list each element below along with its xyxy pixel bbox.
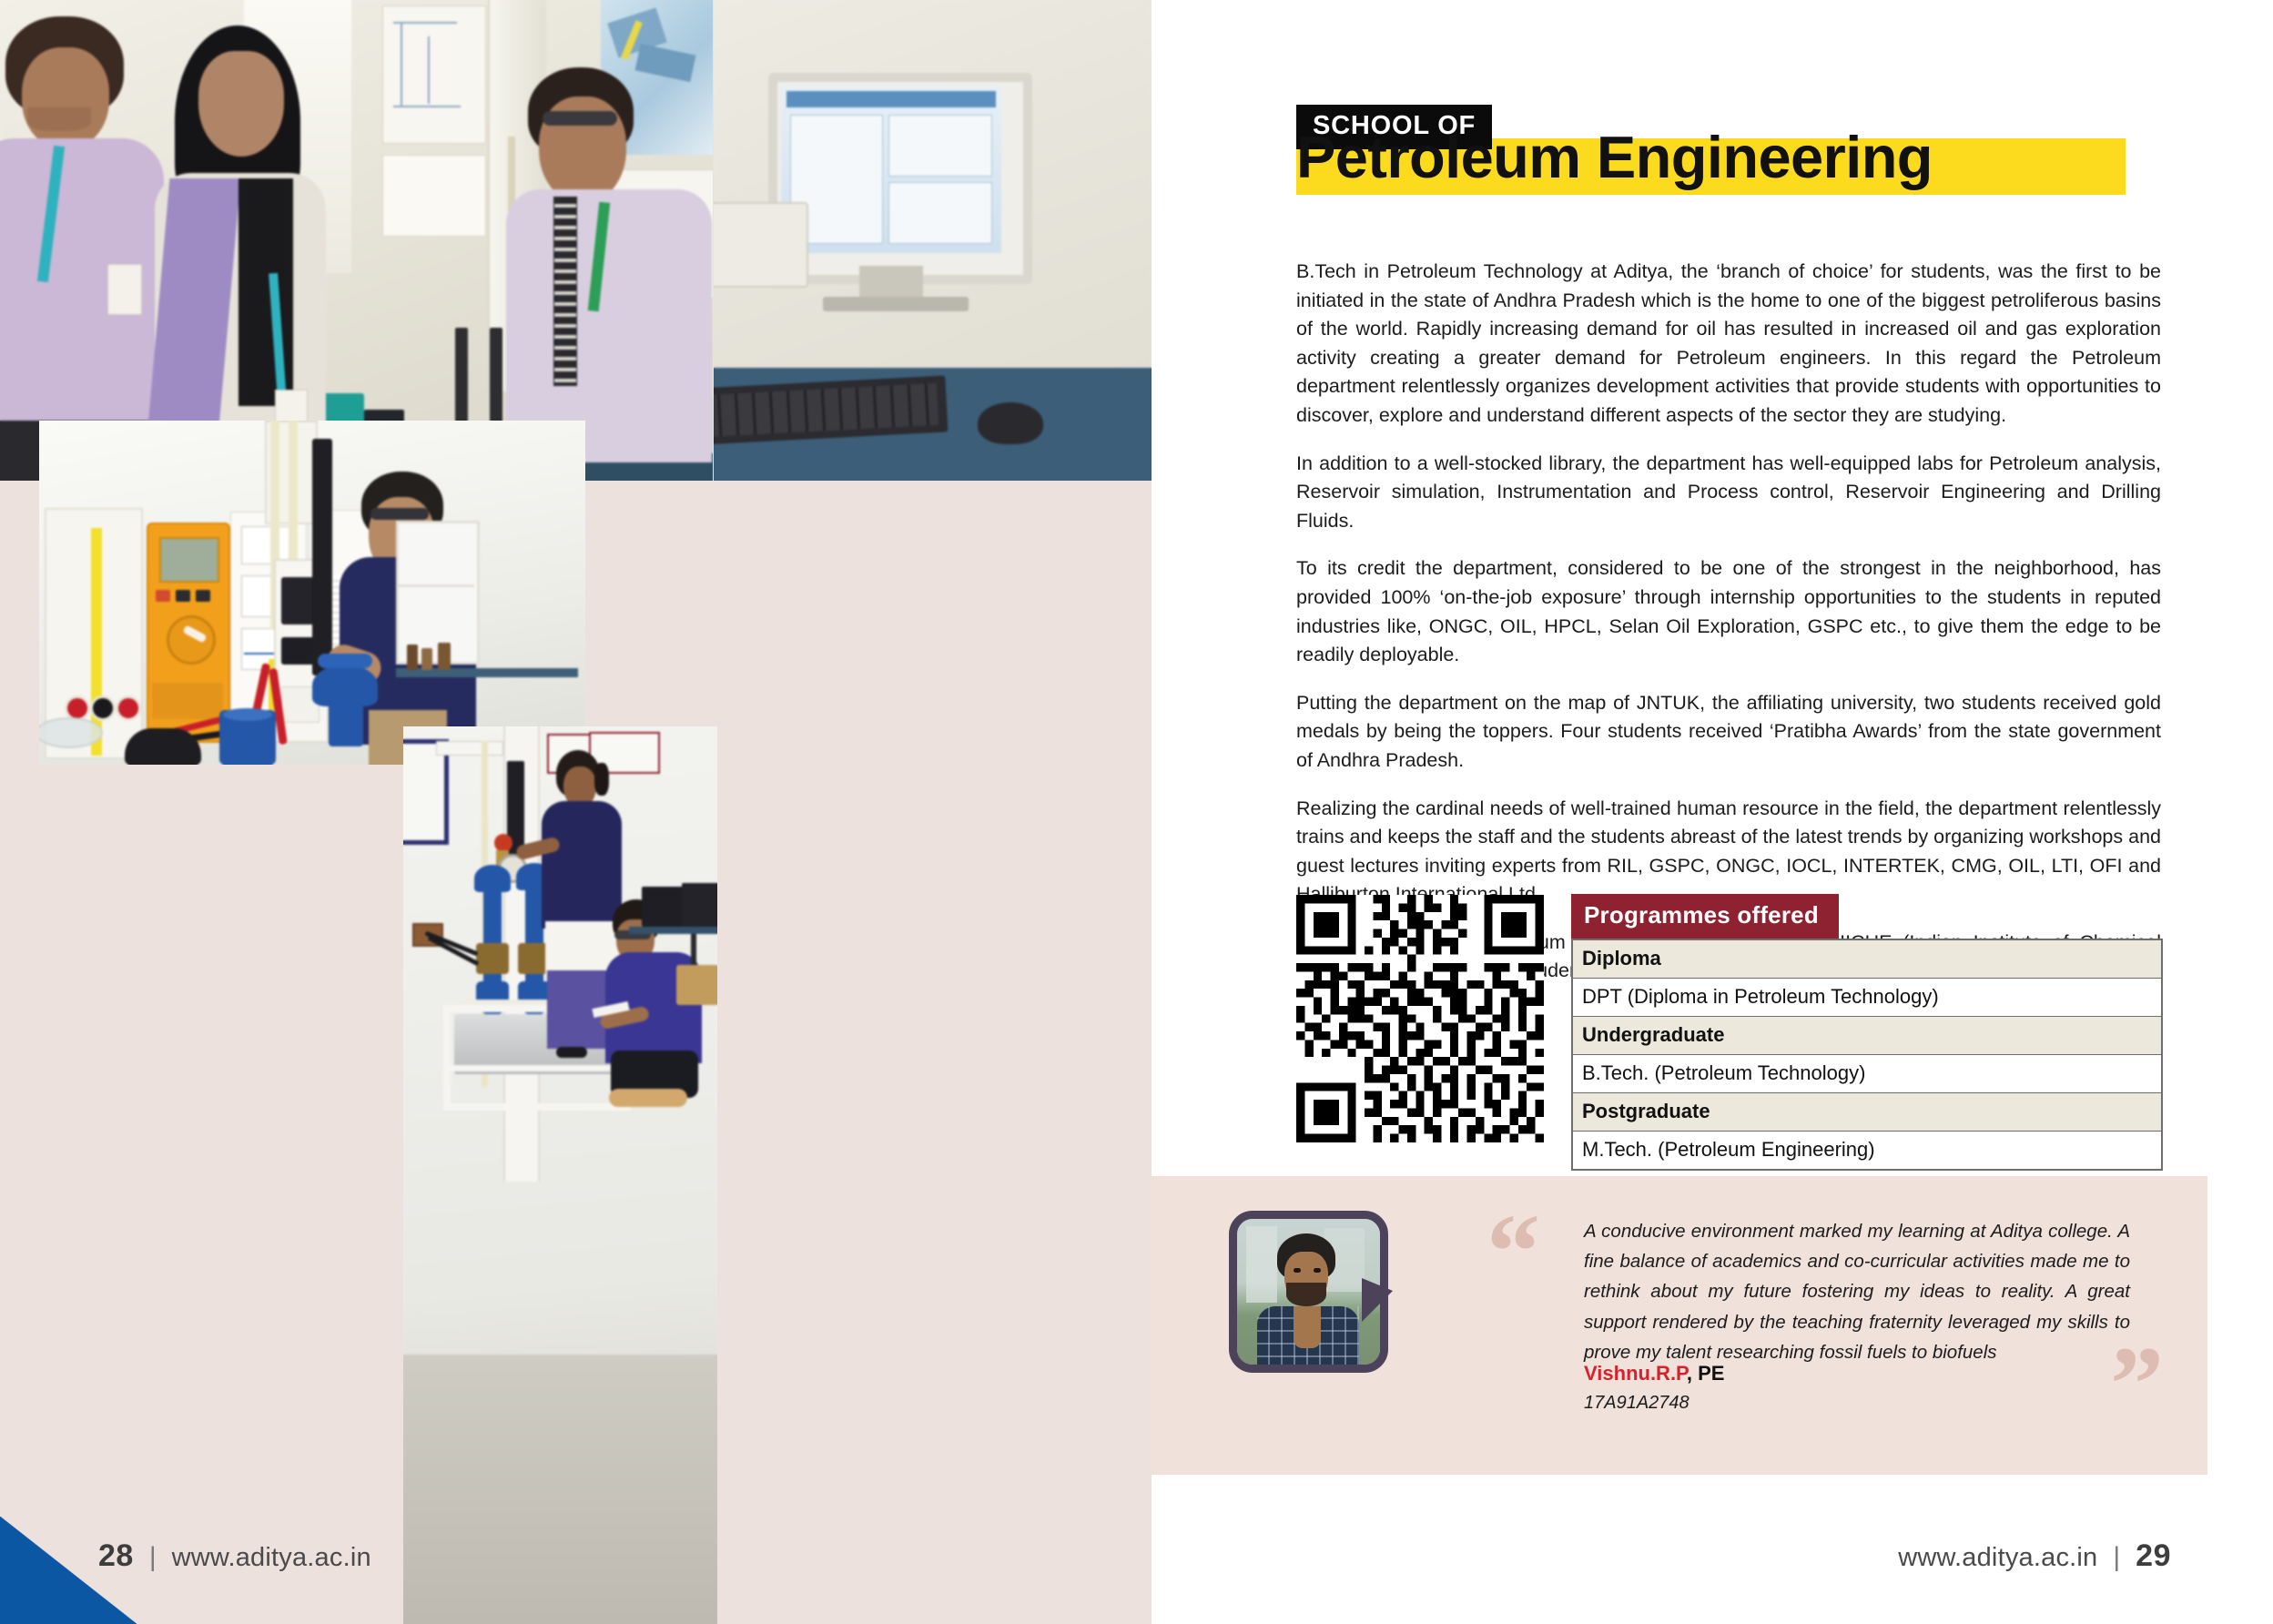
qr-code[interactable] [1296, 895, 1544, 1142]
table-row: Undergraduate [1572, 1017, 2162, 1055]
footer-separator-right: | [2113, 1542, 2120, 1573]
photo-instrumentation-panel [39, 421, 585, 765]
paragraph-3: To its credit the department, considered… [1296, 554, 2161, 669]
paragraph-4: Putting the department on the map of JNT… [1296, 689, 2161, 776]
left-website-url: www.aditya.ac.in [172, 1543, 371, 1573]
programme-item: B.Tech. (Petroleum Technology) [1572, 1055, 2162, 1093]
testimonial-quote: A conducive environment marked my learni… [1584, 1216, 2130, 1367]
table-row: B.Tech. (Petroleum Technology) [1572, 1055, 2162, 1093]
footer-separator-left: | [149, 1542, 157, 1573]
testimonial-branch: PE [1698, 1362, 1724, 1385]
programme-item: DPT (Diploma in Petroleum Technology) [1572, 979, 2162, 1017]
left-page-number: 28 [98, 1538, 134, 1574]
page-title: Petroleum Engineering [1296, 127, 2170, 187]
paragraph-5: Realizing the cardinal needs of well-tra… [1296, 795, 2161, 909]
testimonial-attribution: Vishnu.R.P, PE [1584, 1362, 1724, 1385]
testimonial-roll-number: 17A91A2748 [1584, 1393, 1690, 1414]
table-row: Postgraduate [1572, 1093, 2162, 1132]
right-website-url: www.aditya.ac.in [1898, 1543, 2097, 1573]
programme-category: Undergraduate [1572, 1017, 2162, 1055]
body-copy: B.Tech in Petroleum Technology at Aditya… [1296, 258, 2161, 1005]
programme-item: M.Tech. (Petroleum Engineering) [1572, 1132, 2162, 1171]
qr-code-svg [1296, 895, 1544, 1142]
right-page-number: 29 [2136, 1538, 2171, 1574]
photo-computer-workstation [714, 0, 1152, 481]
table-row: DPT (Diploma in Petroleum Technology) [1572, 979, 2162, 1017]
footer-right: www.aditya.ac.in | 29 [1898, 1538, 2171, 1574]
testimonial-student-name: Vishnu.R.P [1584, 1362, 1687, 1385]
speech-bubble-tail-icon [1362, 1278, 1393, 1322]
paragraph-1: B.Tech in Petroleum Technology at Aditya… [1296, 258, 2161, 431]
programmes-table: Diploma DPT (Diploma in Petroleum Techno… [1571, 939, 2163, 1171]
programme-category: Diploma [1572, 939, 2162, 979]
paragraph-2: In addition to a well-stocked library, t… [1296, 450, 2161, 536]
footer-left: 28 | www.aditya.ac.in [98, 1538, 371, 1574]
programmes-header: Programmes offered [1571, 894, 1839, 939]
quote-open-icon: “ [1487, 1198, 1540, 1305]
programmes-offered-block: Programmes offered Diploma DPT (Diploma … [1571, 894, 2163, 1171]
programme-category: Postgraduate [1572, 1093, 2162, 1132]
photo-petroleum-lab-group [0, 0, 713, 481]
photo-control-valve-rig [403, 726, 717, 1624]
table-row: M.Tech. (Petroleum Engineering) [1572, 1132, 2162, 1171]
brochure-spread: 28 | www.aditya.ac.in SCHOOL OF Petroleu… [0, 0, 2273, 1624]
table-row: Diploma [1572, 939, 2162, 979]
